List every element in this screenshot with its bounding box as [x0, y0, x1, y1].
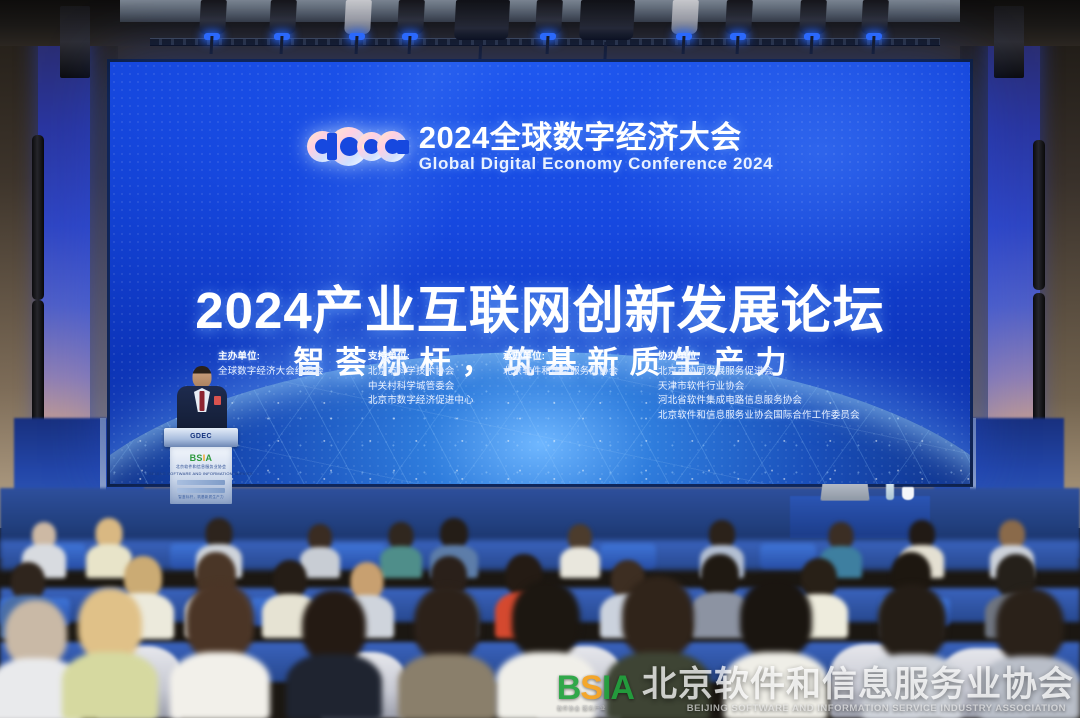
- audience-head: [389, 522, 414, 549]
- audience-head: [909, 520, 935, 548]
- podium-gdec-logo: GDEC: [190, 433, 212, 440]
- organizer-column-undertaker: 承办单位: 北京软件和信息服务业协会: [503, 348, 658, 424]
- hanging-speaker-center-right: [579, 0, 635, 40]
- audience-body: [286, 654, 382, 718]
- ceiling-speaker-left: [60, 6, 90, 78]
- bsia-logo-letters: BSIA: [557, 671, 634, 705]
- stage-light-3: [344, 0, 372, 34]
- organizer-heading: 支持单位:: [368, 348, 503, 362]
- podium-bsia-b: BS: [190, 453, 203, 463]
- audience-head: [414, 586, 480, 660]
- organizer-heading: 协办单位:: [658, 348, 878, 362]
- forum-main-title: 2024产业互联网创新发展论坛: [110, 269, 970, 343]
- stage-light-8: [799, 0, 827, 34]
- audience-head: [440, 518, 468, 548]
- audience-body: [170, 652, 270, 718]
- screen-content: 2024全球数字经济大会 Global Digital Economy Conf…: [110, 62, 970, 484]
- organizer-heading: 承办单位:: [503, 348, 658, 362]
- speaker-lapel-badge: [214, 396, 221, 405]
- bsia-letter-b: B: [557, 669, 581, 707]
- organizer-column-support: 支持单位: 北京市科学技术协会 中关村科学城管委会 北京市数字经济促进中心: [368, 348, 503, 424]
- audience-member: [560, 524, 600, 576]
- podium-bsia-a: A: [206, 453, 213, 463]
- audience-member-foreground: [62, 588, 158, 718]
- audience-head: [512, 580, 580, 658]
- organizer-item: 北京市协同发展服务促进会: [658, 365, 878, 380]
- organizer-item: 全球数字经济大会组委会: [218, 365, 368, 380]
- podium-bsia-logo: BSIA: [190, 453, 213, 463]
- bsia-watermark: BSIA 软件协会 服务产业 北京软件和信息服务业协会 BEIJING SOFT…: [557, 667, 1074, 716]
- bsia-letter-s: S: [580, 669, 602, 707]
- conference-title-en: Global Digital Economy Conference 2024: [419, 155, 773, 172]
- organizer-heading: 主办单位:: [218, 348, 368, 362]
- organizer-item: 北京市数字经济促进中心: [368, 394, 503, 409]
- audience-head: [186, 582, 254, 660]
- organizer-item: 北京软件和信息服务业协会国际合作工作委员会: [658, 409, 878, 424]
- hanging-speaker-center-left: [454, 0, 510, 40]
- conference-title-cn: 2024全球数字经济大会: [419, 122, 773, 153]
- organizer-item: 天津市软件行业协会: [658, 380, 878, 395]
- organizer-item: 中关村科学城管委会: [368, 380, 503, 395]
- conference-brand-text: 2024全球数字经济大会 Global Digital Economy Conf…: [419, 122, 773, 172]
- organizers-block: 主办单位: 全球数字经济大会组委会 支持单位: 北京市科学技术协会 中关村科学城…: [218, 348, 878, 424]
- gdec-logo-icon: [307, 124, 405, 170]
- organizer-item: 北京软件和信息服务业协会: [503, 365, 658, 380]
- stage-light-4: [397, 0, 425, 34]
- speaker-head: [193, 366, 212, 388]
- podium-top: GDEC: [164, 428, 238, 447]
- audience-head: [622, 576, 694, 658]
- conference-hall-scene: 2024全球数字经济大会 Global Digital Economy Conf…: [0, 0, 1080, 718]
- bsia-logo-subtext: 软件协会 服务产业: [557, 707, 634, 713]
- ceiling-speaker-right: [994, 6, 1024, 78]
- audience-head: [829, 522, 854, 549]
- stage-light-7: [725, 0, 753, 34]
- audience-member-foreground: [286, 590, 382, 718]
- organizer-item: 北京市科学技术协会: [368, 365, 503, 380]
- audience-head: [5, 600, 67, 666]
- stage-light-2: [269, 0, 297, 34]
- bsia-name-en: BEIJING SOFTWARE AND INFORMATION SERVICE…: [687, 703, 1066, 714]
- stage-light-5: [535, 0, 563, 34]
- bsia-name-cn: 北京软件和信息服务业协会: [642, 667, 1074, 702]
- audience-member-foreground: [398, 586, 496, 718]
- organizer-item: 河北省软件集成电路信息服务协会: [658, 394, 878, 409]
- bsia-name-stack: 北京软件和信息服务业协会 BEIJING SOFTWARE AND INFORM…: [642, 667, 1074, 716]
- bsia-logo-mark: BSIA 软件协会 服务产业: [557, 671, 634, 713]
- audience-head: [996, 588, 1064, 662]
- led-stage-screen: 2024全球数字经济大会 Global Digital Economy Conf…: [110, 62, 970, 484]
- organizer-column-coorganizer: 协办单位: 北京市协同发展服务促进会 天津市软件行业协会 河北省软件集成电路信息…: [658, 348, 878, 424]
- audience-head: [999, 520, 1025, 548]
- bsia-letters-ia: IA: [602, 669, 634, 707]
- audience-head: [709, 520, 735, 548]
- gdec-letter-c: [377, 131, 407, 162]
- audience-head: [302, 590, 366, 662]
- organizer-column-host: 主办单位: 全球数字经济大会组委会: [218, 348, 368, 424]
- speaker-tie: [200, 391, 205, 411]
- left-line-array-speaker-upper: [32, 135, 44, 300]
- stage-light-9: [861, 0, 889, 34]
- audience-head: [78, 588, 142, 660]
- stage-light-1: [199, 0, 227, 34]
- stage-light-6: [671, 0, 699, 34]
- audience-body: [62, 652, 158, 718]
- audience-body: [560, 547, 600, 578]
- audience-member-foreground: [170, 582, 270, 718]
- audience-body: [398, 654, 496, 718]
- audience-head: [878, 584, 946, 660]
- conference-brand-lockup: 2024全球数字经济大会 Global Digital Economy Conf…: [110, 122, 970, 172]
- left-light-column: [38, 30, 90, 475]
- right-line-array-speaker-upper: [1033, 140, 1045, 290]
- audience-head: [740, 578, 812, 658]
